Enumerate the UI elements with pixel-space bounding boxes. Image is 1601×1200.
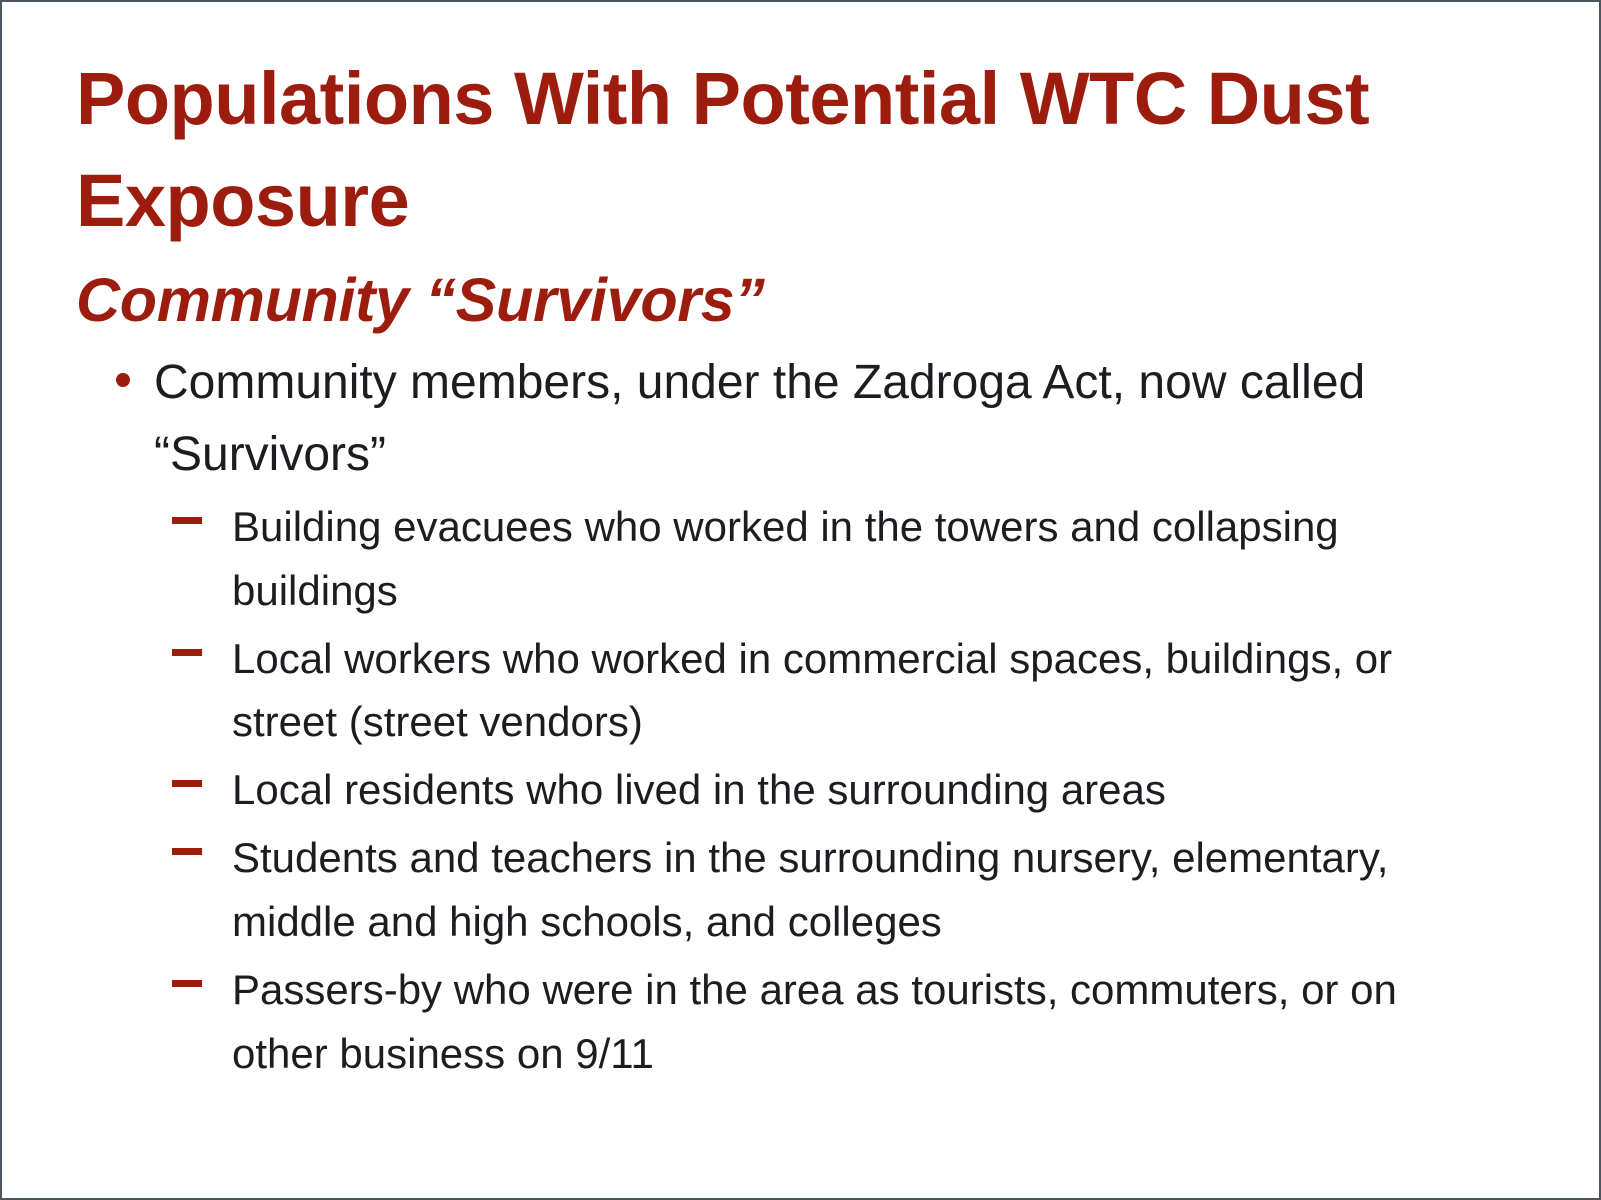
slide-subtitle: Community “Survivors” bbox=[76, 264, 1496, 337]
title-block: Populations With Potential WTC DustExpos… bbox=[76, 48, 1496, 337]
bullet-dash-icon bbox=[172, 517, 202, 524]
bullet-dot-icon bbox=[116, 373, 130, 387]
bullet-dash-icon bbox=[172, 980, 202, 987]
slide-title-line-2: Exposure bbox=[76, 159, 409, 242]
bullet-list-level-1: Community members, under the Zadroga Act… bbox=[76, 347, 1526, 1085]
bullet-dash-icon bbox=[172, 848, 202, 855]
sub-bullet-text: Passers-by who were in the area as touri… bbox=[232, 958, 1407, 1086]
slide-title-line-1: Populations With Potential WTC Dust bbox=[76, 57, 1369, 140]
presentation-slide: Populations With Potential WTC DustExpos… bbox=[0, 0, 1601, 1200]
bullet-text: Community members, under the Zadroga Act… bbox=[154, 347, 1444, 491]
sub-bullet-text: Students and teachers in the surrounding… bbox=[232, 826, 1407, 954]
slide-content-area: Populations With Potential WTC DustExpos… bbox=[2, 2, 1599, 1198]
bullet-dash-icon bbox=[172, 780, 202, 787]
sub-bullet-text: Building evacuees who worked in the towe… bbox=[232, 495, 1407, 623]
list-item: Passers-by who were in the area as touri… bbox=[154, 958, 1526, 1086]
bullet-dash-icon bbox=[172, 649, 202, 656]
list-item: Community members, under the Zadroga Act… bbox=[76, 347, 1526, 1085]
bullet-list-level-2: Building evacuees who worked in the towe… bbox=[154, 495, 1526, 1085]
list-item: Local residents who lived in the surroun… bbox=[154, 758, 1526, 822]
list-item: Building evacuees who worked in the towe… bbox=[154, 495, 1526, 623]
slide-body: Community members, under the Zadroga Act… bbox=[76, 347, 1526, 1091]
list-item: Local workers who worked in commercial s… bbox=[154, 627, 1526, 755]
slide-title: Populations With Potential WTC DustExpos… bbox=[76, 48, 1496, 252]
sub-bullet-text: Local residents who lived in the surroun… bbox=[232, 758, 1407, 822]
sub-bullet-text: Local workers who worked in commercial s… bbox=[232, 627, 1407, 755]
list-item: Students and teachers in the surrounding… bbox=[154, 826, 1526, 954]
